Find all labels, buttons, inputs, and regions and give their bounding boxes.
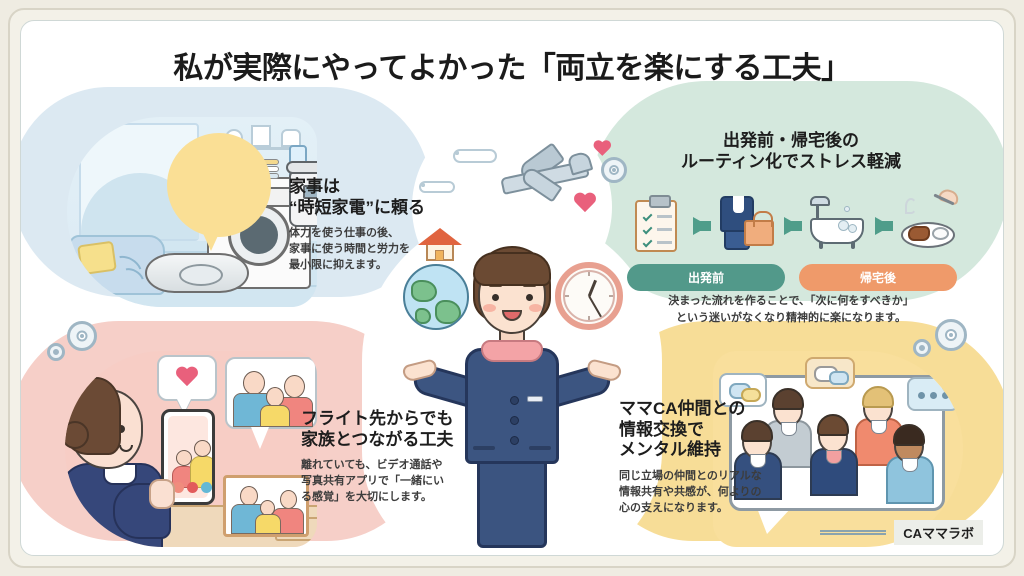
arrow-right-icon <box>784 217 800 235</box>
heading-routine-line2: ルーティン化でストレス軽減 <box>619 152 963 173</box>
family-father-head <box>243 371 265 395</box>
heading-home-appliances-line2: “時短家電”に頼る <box>289 198 469 219</box>
gear-icon <box>913 339 931 357</box>
handbag-icon <box>744 220 774 246</box>
figure-jacket-button <box>510 436 519 445</box>
footer-brand: CAママラボ <box>820 520 983 545</box>
body-routine: 決まった流れを作ることで、「次に何をすべきか」 という迷いがなくなり精神的に楽に… <box>619 293 963 326</box>
frame-mother-head <box>280 490 297 509</box>
routine-stage-badges: 出発前 帰宅後 <box>627 264 957 291</box>
frame-child-body <box>255 514 281 534</box>
chat-bubble-top <box>805 357 855 389</box>
woman-hand <box>149 479 175 509</box>
footer-brand-text: CAママラボ <box>894 520 983 545</box>
badge-return: 帰宅後 <box>799 264 957 291</box>
family-mother-head <box>284 375 305 398</box>
figure-jacket-button <box>510 416 519 425</box>
infographic-poster: 私が実際にやってよかった「両立を楽にする工夫」 <box>0 0 1024 576</box>
heading-peer-line2: 情報交換で <box>619 420 815 441</box>
routine-step-flow <box>627 193 957 259</box>
body-family-line3: る感覚」を大切にします。 <box>301 490 497 506</box>
body-routine-line1: 決まった流れを作ることで、「次に何をすべきか」 <box>619 293 963 310</box>
steak-icon <box>908 226 930 241</box>
arrow-right-icon <box>693 217 709 235</box>
clipboard-checklist-icon <box>635 200 677 252</box>
badge-departure: 出発前 <box>627 264 785 291</box>
heading-home-appliances-line1: 家事は <box>289 177 469 198</box>
figure-pocket <box>529 446 551 450</box>
figure-hair-front <box>473 252 551 286</box>
figure-eye <box>526 294 533 301</box>
heading-family-line2: 家族とつながる工夫 <box>301 430 497 451</box>
footer-rule <box>820 530 886 535</box>
call-button-end[interactable] <box>187 482 198 493</box>
text-block-peer-support: ママCA仲間との 情報交換で メンタル維持 同じ立場の仲間とのリアルな 情報共有… <box>619 399 815 517</box>
heart-speech-bubble <box>157 355 217 401</box>
figure-cheek <box>529 304 542 312</box>
heading-peer-line3: メンタル維持 <box>619 440 815 461</box>
body-home-appliances-line2: 家事に使う時間と労力を <box>289 242 469 258</box>
routine-step-uniform <box>718 196 776 256</box>
photo-bubble-tail <box>251 427 269 449</box>
frame-father-head <box>240 486 258 506</box>
body-peer-line2: 情報共有や共感が、何よりの <box>619 485 815 501</box>
wall-clock-icon <box>555 262 623 330</box>
figure-eye <box>492 294 499 301</box>
heart-icon <box>591 139 608 155</box>
call-button-video[interactable] <box>201 482 212 493</box>
gear-icon <box>47 343 65 361</box>
text-block-family-connection: フライト先からでも 家族とつながる工夫 離れていても、ビデオ通話や 写真共有アプ… <box>301 409 497 506</box>
figure-jacket-button <box>510 396 519 405</box>
body-peer-line1: 同じ立場の仲間とのリアルな <box>619 469 815 485</box>
body-family-line2: 写真共有アプリで「一緒にい <box>301 474 497 490</box>
illustration-home-appliances <box>67 117 317 307</box>
body-peer-line3: 心の支えになります。 <box>619 501 815 517</box>
body-routine-line2: という迷いがなくなり精神的に楽になります。 <box>619 310 963 327</box>
poster-inner-card: 私が実際にやってよかった「両立を楽にする工夫」 <box>20 20 1004 556</box>
page-title: 私が実際にやってよかった「両立を楽にする工夫」 <box>21 43 1003 87</box>
text-block-routine: 出発前・帰宅後の ルーティン化でストレス軽減 <box>619 131 963 172</box>
speech-bubble-appliance <box>167 133 271 237</box>
heart-icon <box>175 367 199 389</box>
heading-peer-line1: ママCA仲間との <box>619 399 815 420</box>
figure-scarf <box>481 340 543 362</box>
call-child-head <box>176 450 192 466</box>
figure-name-badge <box>527 396 543 402</box>
rice-icon <box>932 227 949 240</box>
steam-icon <box>905 198 917 214</box>
body-home-appliances-line3: 最小限に抑えます。 <box>289 258 469 274</box>
text-block-home-appliances: 家事は “時短家電”に頼る 体力を使う仕事の後、 家事に使う時間と労力を 最小限… <box>289 177 469 274</box>
routine-step-meal <box>899 196 957 256</box>
call-parent-head <box>194 440 211 457</box>
routine-step-checklist <box>627 196 685 256</box>
robot-vacuum-icon <box>145 253 249 293</box>
shelf-item-frame <box>251 125 271 147</box>
chat-bubble-right <box>907 377 959 411</box>
body-home-appliances-line1: 体力を使う仕事の後、 <box>289 226 469 242</box>
body-family-line1: 離れていても、ビデオ通話や <box>301 458 497 474</box>
family-child-head <box>266 387 284 407</box>
bubble-dot <box>844 206 850 212</box>
family-child-body <box>260 405 290 427</box>
routine-step-bath <box>808 196 866 256</box>
figure-cheek <box>483 304 496 312</box>
photo-frame-icon <box>223 475 309 537</box>
gear-icon <box>67 321 97 351</box>
illustration-family-connection <box>65 351 317 547</box>
arrow-right-icon <box>875 217 891 235</box>
heading-routine-line1: 出発前・帰宅後の <box>619 131 963 152</box>
shower-head-icon <box>816 200 819 218</box>
heading-family-line1: フライト先からでも <box>301 409 497 430</box>
heart-icon <box>573 193 595 213</box>
